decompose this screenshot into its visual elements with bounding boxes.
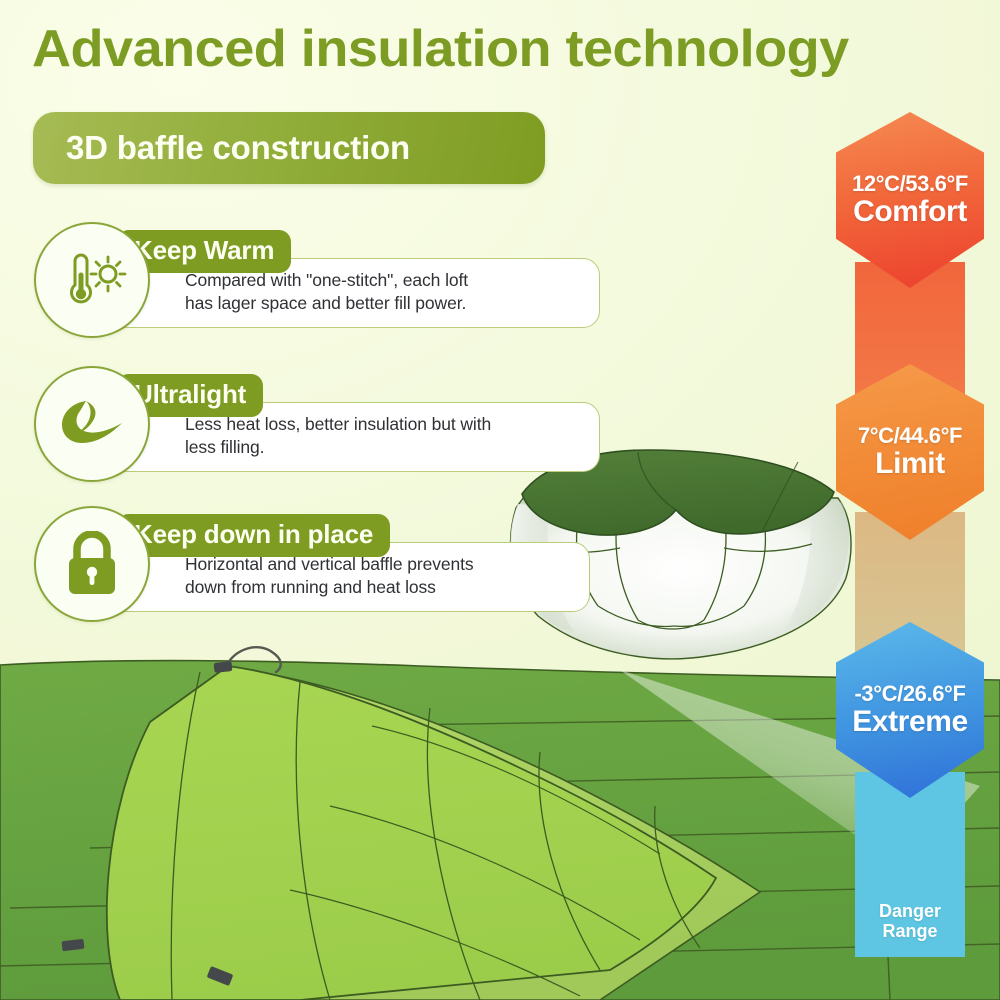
feature-icon-circle — [34, 366, 150, 482]
feature-icon-circle — [34, 506, 150, 622]
thermometer-sun-icon — [57, 249, 127, 311]
limit-level-name: Limit — [875, 448, 945, 480]
feature-description: Horizontal and vertical baffle prevents … — [185, 553, 573, 600]
comfort-temperature: 12°C/53.6°F — [852, 172, 968, 195]
comfort-level-name: Comfort — [853, 196, 967, 228]
feature-icon-circle — [34, 222, 150, 338]
infographic-canvas: Advanced insulation technology 3D baffle… — [0, 0, 1000, 1000]
danger-range-label: Danger Range — [879, 901, 941, 941]
feature-description: Compared with "one-stitch", each loft ha… — [185, 269, 583, 316]
banner-3d-baffle-construction: 3D baffle construction — [33, 112, 545, 184]
page-title: Advanced insulation technology — [32, 22, 1000, 77]
temperature-scale: Comfort Range Transition Range Danger Ra… — [836, 112, 984, 840]
extreme-level-name: Extreme — [852, 706, 968, 738]
extreme-temperature: -3°C/26.6°F — [854, 682, 965, 705]
limit-temperature: 7°C/44.6°F — [858, 424, 962, 447]
feature-title-pill: Keep down in place — [117, 514, 390, 557]
feature-description: Less heat loss, better insulation but wi… — [185, 413, 583, 460]
danger-range-bar: Danger Range — [855, 772, 965, 957]
feather-icon — [56, 397, 128, 451]
lock-icon — [63, 531, 121, 597]
banner-label: 3D baffle construction — [33, 129, 410, 167]
